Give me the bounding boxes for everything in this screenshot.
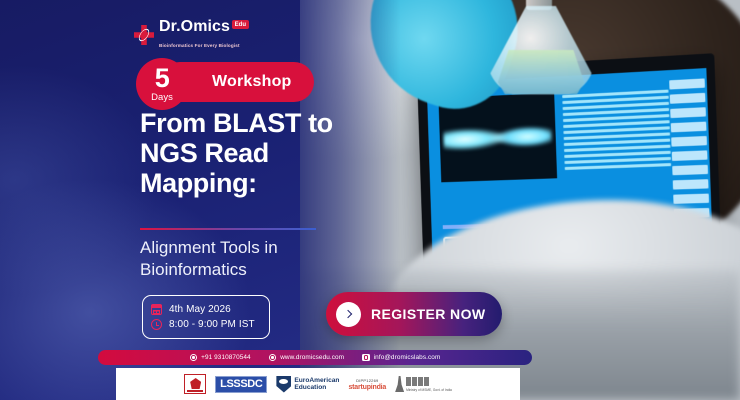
startup-india-label: startupindia — [348, 384, 386, 391]
brand-tagline: Bioinformatics For Every Biologist — [159, 43, 240, 48]
contact-website-text: www.dromicsedu.com — [280, 354, 344, 361]
brand-logo[interactable]: Dr.Omics Edu Bioinformatics For Every Bi… — [134, 19, 249, 51]
brand-edu-badge: Edu — [232, 20, 249, 29]
institute-emblem-icon — [184, 374, 206, 394]
lsssdc-label: LSSSDC — [215, 376, 267, 393]
partner-logo-strip: LSSSDC EuroAmerican Education DIPP12269 … — [116, 368, 520, 400]
msme-wordmark: Ministry of MSME, Govt. of India — [406, 377, 452, 392]
duration-unit: Days — [151, 93, 173, 103]
euroamerican-label-line2: Education — [294, 384, 326, 391]
contact-email-text: info@dromicslabs.com — [374, 354, 441, 361]
brand-name-row: Dr.Omics Edu — [159, 19, 249, 35]
euroamerican-label-line1: EuroAmerican — [294, 377, 339, 384]
webinar-banner: Dr.Omics Edu Bioinformatics For Every Bi… — [0, 0, 740, 400]
contact-bar: +91 9310870544 www.dromicsedu.com info@d… — [98, 350, 532, 365]
msme-emblem-icon — [395, 376, 404, 392]
schedule-time: 8:00 - 9:00 PM IST — [169, 319, 255, 330]
flask-liquid — [496, 50, 586, 96]
msme-caption: Ministry of MSME, Govt. of India — [406, 388, 452, 392]
erlenmeyer-flask — [482, 0, 600, 110]
clock-icon — [151, 319, 162, 330]
register-button-label: REGISTER NOW — [371, 306, 485, 322]
msme-logo: Ministry of MSME, Govt. of India — [395, 376, 452, 392]
title-divider — [140, 228, 316, 230]
startup-india-dipp: DIPP12269 — [356, 378, 378, 383]
schedule-time-row: 8:00 - 9:00 PM IST — [151, 319, 261, 330]
schedule-box: 4th May 2026 8:00 - 9:00 PM IST — [142, 295, 270, 339]
schedule-date: 4th May 2026 — [169, 304, 231, 315]
dna-cross-icon — [134, 25, 154, 45]
phone-icon — [190, 354, 198, 362]
duration-circle: 5 Days — [136, 58, 188, 110]
contact-phone-text: +91 9310870544 — [201, 354, 251, 361]
schedule-date-row: 4th May 2026 — [151, 304, 261, 315]
contact-website[interactable]: www.dromicsedu.com — [269, 354, 344, 362]
brand-name: Dr.Omics — [159, 19, 230, 35]
duration-number: 5 — [155, 65, 170, 92]
page-subtitle: Alignment Tools in Bioinformatics — [140, 237, 330, 281]
euroamerican-shield-icon — [276, 376, 291, 393]
government-institute-emblem — [184, 374, 206, 394]
euroamerican-label: EuroAmerican Education — [294, 377, 339, 392]
lsssdc-logo: LSSSDC — [215, 376, 267, 393]
euroamerican-education-logo: EuroAmerican Education — [276, 376, 339, 393]
globe-icon — [269, 354, 277, 362]
contact-email[interactable]: info@dromicslabs.com — [362, 354, 440, 362]
contact-phone[interactable]: +91 9310870544 — [190, 354, 251, 362]
email-icon — [362, 354, 370, 362]
brand-text: Dr.Omics Edu Bioinformatics For Every Bi… — [159, 19, 249, 51]
calendar-icon — [151, 304, 162, 315]
page-title: From BLAST to NGS Read Mapping: — [140, 108, 340, 199]
chevron-right-icon — [336, 302, 361, 327]
startup-india-logo: DIPP12269 startupindia — [348, 378, 386, 391]
register-now-button[interactable]: REGISTER NOW — [326, 292, 502, 336]
